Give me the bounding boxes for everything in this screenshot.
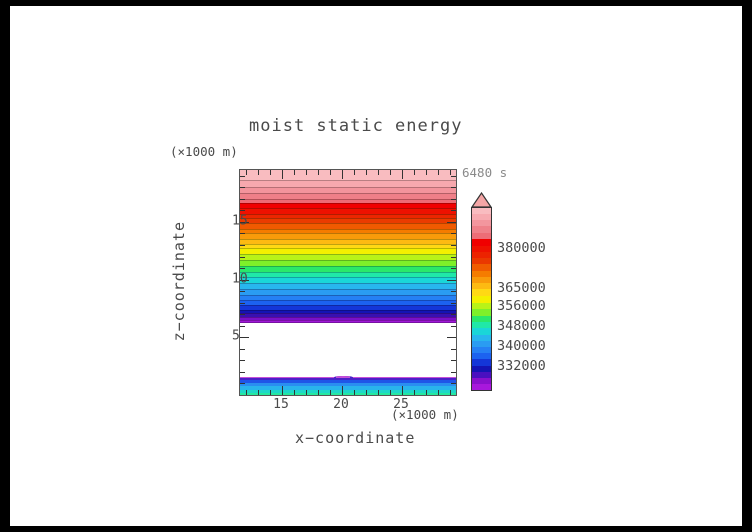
colorbar-band bbox=[472, 384, 491, 390]
axis-tick bbox=[451, 395, 456, 396]
axis-tick bbox=[240, 210, 245, 211]
axis-tick bbox=[426, 170, 427, 175]
axis-tick bbox=[306, 390, 307, 395]
axis-tick bbox=[246, 390, 247, 395]
axis-tick bbox=[378, 170, 379, 175]
colorbar-band bbox=[472, 239, 491, 246]
y-tick-label: 5 bbox=[232, 329, 240, 344]
axis-tick bbox=[240, 233, 245, 234]
colorbar[interactable] bbox=[471, 207, 492, 391]
y-tick-label: 15 bbox=[232, 213, 248, 228]
axis-tick bbox=[318, 390, 319, 395]
axis-tick bbox=[258, 170, 259, 175]
axis-tick bbox=[240, 199, 245, 200]
axis-tick bbox=[258, 390, 259, 395]
contour-line bbox=[240, 313, 456, 314]
colorbar-tick-label: 348000 bbox=[497, 318, 546, 334]
axis-tick bbox=[451, 268, 456, 269]
contour-line bbox=[240, 310, 456, 311]
axis-tick bbox=[426, 390, 427, 395]
colorbar-band bbox=[472, 289, 491, 296]
contour-line bbox=[240, 289, 456, 290]
axis-tick bbox=[414, 170, 415, 175]
axis-tick bbox=[270, 170, 271, 175]
axis-tick bbox=[240, 326, 245, 327]
axis-tick bbox=[240, 268, 245, 269]
contour-band-surface bbox=[240, 393, 456, 396]
axis-tick bbox=[282, 386, 283, 395]
contour-line bbox=[240, 203, 456, 204]
axis-tick bbox=[447, 280, 456, 281]
contour-line bbox=[240, 260, 456, 261]
y-tick-label: 10 bbox=[232, 271, 248, 286]
page-title: moist static energy bbox=[249, 116, 462, 136]
contour-line bbox=[240, 214, 456, 215]
contour-line bbox=[240, 208, 456, 209]
contour-line bbox=[240, 187, 456, 188]
axis-tick bbox=[354, 170, 355, 175]
axis-tick bbox=[451, 303, 456, 304]
x-axis-label: x−coordinate bbox=[295, 429, 415, 447]
axis-tick bbox=[240, 372, 245, 373]
contour-line bbox=[240, 239, 456, 240]
axis-tick bbox=[390, 390, 391, 395]
colorbar-band bbox=[472, 309, 491, 316]
axis-tick bbox=[240, 245, 245, 246]
axis-tick bbox=[294, 390, 295, 395]
axis-tick bbox=[438, 390, 439, 395]
y-axis-units: (×1000 m) bbox=[170, 144, 238, 159]
axis-tick bbox=[240, 349, 245, 350]
axis-tick bbox=[240, 291, 245, 292]
contour-line bbox=[240, 317, 456, 318]
contour-line bbox=[240, 320, 456, 321]
axis-tick bbox=[342, 170, 343, 179]
figure-canvas: moist static energy (×1000 m) 6480 s 152… bbox=[10, 6, 742, 526]
axis-tick bbox=[451, 383, 456, 384]
axis-tick bbox=[240, 360, 245, 361]
axis-tick bbox=[240, 187, 245, 188]
contour-line bbox=[240, 300, 456, 301]
contour-band-upper bbox=[240, 170, 456, 181]
axis-tick bbox=[240, 176, 245, 177]
contour-line bbox=[240, 266, 456, 267]
axis-tick bbox=[451, 245, 456, 246]
axis-tick bbox=[270, 390, 271, 395]
contour-line bbox=[240, 199, 456, 200]
axis-tick bbox=[402, 386, 403, 395]
contour-line bbox=[240, 295, 456, 296]
axis-tick bbox=[240, 395, 245, 396]
axis-tick bbox=[451, 176, 456, 177]
contour-line bbox=[240, 283, 456, 284]
contour-line bbox=[240, 277, 456, 278]
axis-tick bbox=[342, 386, 343, 395]
axis-tick bbox=[240, 337, 249, 338]
axis-tick bbox=[451, 314, 456, 315]
axis-tick bbox=[451, 360, 456, 361]
axis-tick bbox=[451, 187, 456, 188]
colorbar-arrow-icon bbox=[471, 192, 492, 208]
surface-dip-highlight bbox=[336, 376, 350, 378]
colorbar-tick-label: 340000 bbox=[497, 338, 546, 354]
axis-tick bbox=[366, 390, 367, 395]
colorbar-band bbox=[472, 328, 491, 335]
x-tick-label: 15 bbox=[273, 397, 289, 412]
axis-tick bbox=[451, 326, 456, 327]
axis-tick bbox=[318, 170, 319, 175]
axis-tick bbox=[451, 257, 456, 258]
axis-tick bbox=[390, 170, 391, 175]
contour-field bbox=[240, 170, 456, 395]
colorbar-tick-label: 380000 bbox=[497, 240, 546, 256]
contour-line bbox=[240, 305, 456, 306]
axis-tick bbox=[451, 349, 456, 350]
contour-line bbox=[240, 322, 456, 323]
contour-line bbox=[240, 244, 456, 245]
colorbar-tick-label: 332000 bbox=[497, 358, 546, 374]
axis-tick bbox=[330, 170, 331, 175]
axis-tick bbox=[246, 170, 247, 175]
colorbar-tick-label: 365000 bbox=[497, 280, 546, 296]
contour-line bbox=[240, 248, 456, 249]
axis-tick bbox=[451, 233, 456, 234]
colorbar-band bbox=[472, 264, 491, 271]
axis-tick bbox=[447, 337, 456, 338]
axis-tick bbox=[378, 390, 379, 395]
axis-tick bbox=[306, 170, 307, 175]
axis-tick bbox=[451, 210, 456, 211]
axis-tick bbox=[240, 257, 245, 258]
contour-line bbox=[240, 218, 456, 219]
axis-tick bbox=[240, 383, 245, 384]
axis-tick bbox=[451, 291, 456, 292]
contour-line bbox=[240, 193, 456, 194]
axis-tick bbox=[282, 170, 283, 179]
axis-tick bbox=[451, 199, 456, 200]
x-tick-label: 20 bbox=[333, 397, 349, 412]
x-axis-units: (×1000 m) bbox=[391, 407, 459, 422]
axis-tick bbox=[294, 170, 295, 175]
axis-tick bbox=[450, 170, 451, 175]
axis-tick bbox=[447, 222, 456, 223]
contour-line bbox=[240, 254, 456, 255]
axis-tick bbox=[330, 390, 331, 395]
axis-tick bbox=[366, 170, 367, 175]
contour-line bbox=[240, 223, 456, 224]
axis-tick bbox=[402, 170, 403, 179]
axis-tick bbox=[354, 390, 355, 395]
contour-line bbox=[240, 229, 456, 230]
axis-tick bbox=[451, 372, 456, 373]
axis-tick bbox=[414, 390, 415, 395]
contour-line bbox=[240, 272, 456, 273]
axis-tick bbox=[240, 314, 245, 315]
contour-plot[interactable] bbox=[239, 169, 457, 396]
axis-tick bbox=[240, 303, 245, 304]
axis-tick bbox=[438, 170, 439, 175]
y-axis-label: z−coordinate bbox=[170, 221, 188, 341]
contour-line bbox=[240, 233, 456, 234]
contour-line bbox=[240, 180, 456, 181]
colorbar-tick-label: 356000 bbox=[497, 298, 546, 314]
timestamp-label: 6480 s bbox=[462, 165, 507, 180]
